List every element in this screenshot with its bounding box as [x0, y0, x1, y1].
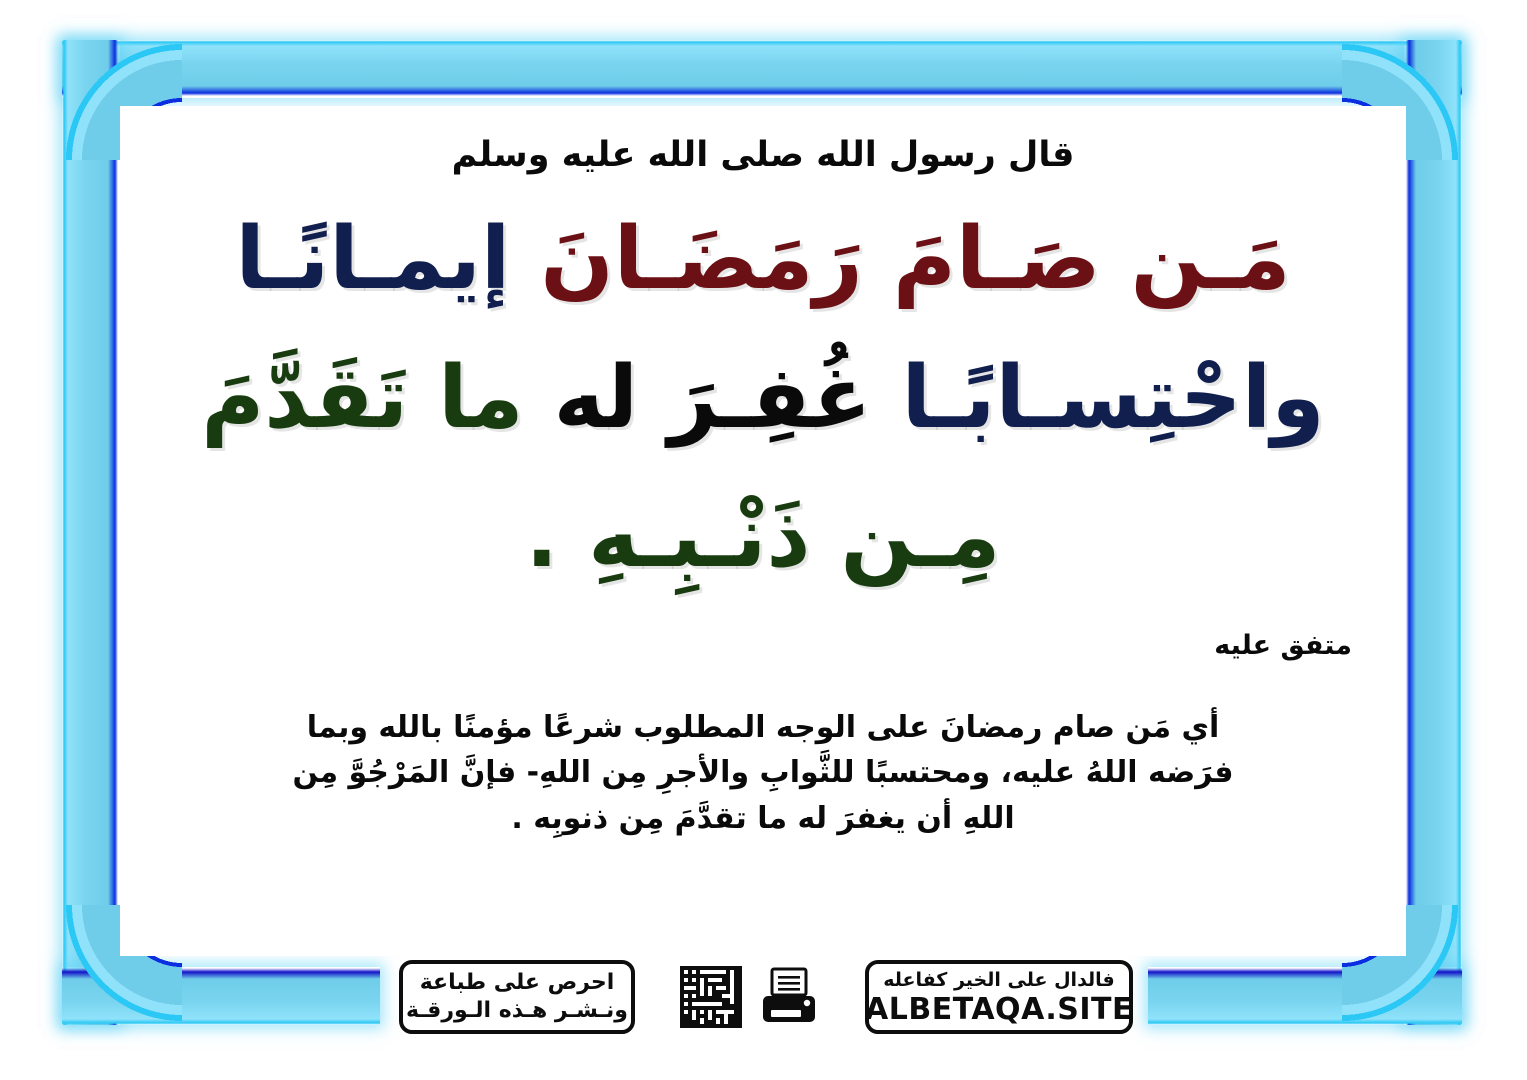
explanation-line-3: اللهِ أن يغفرَ له ما تقدَّمَ مِن ذنوبِه … — [170, 796, 1356, 842]
print-encouragement-line-2: ونـشـر هـذه الـورقـة — [406, 997, 628, 1025]
hadith-line-1: مَـن صَـامَ رَمَضَـانَ إيمـانًـا — [156, 190, 1370, 329]
footer-icons — [670, 966, 830, 1028]
hadith-seg-1b: إيمـانًـا — [235, 209, 510, 309]
hadith-line-2: واحْتِسـابًـا غُفِـرَ له ما تَقَدَّمَ — [156, 329, 1370, 468]
site-credit-arabic: فالدال على الخير كفاعله — [883, 968, 1115, 992]
print-encouragement-box: احرص على طباعة ونـشـر هـذه الـورقـة — [399, 960, 635, 1034]
hadith-seg-2a: واحْتِسـابًـا — [902, 348, 1325, 448]
hadith-text: مَـن صَـامَ رَمَضَـانَ إيمـانًـا واحْتِس… — [120, 178, 1406, 608]
footer-strip: احرص على طباعة ونـشـر هـذه الـورقـة — [399, 958, 1133, 1036]
frame-bottom-right-segment — [1148, 967, 1462, 1025]
hadith-seg-1a: مَـن صَـامَ رَمَضَـانَ — [540, 209, 1290, 309]
site-credit-box[interactable]: فالدال على الخير كفاعله ALBETAQA.SITE — [865, 960, 1133, 1034]
page-title: قال رسول الله صلى الله عليه وسلم — [120, 106, 1406, 178]
explanation-line-2: فرَضه اللهُ عليه، ومحتسبًا للثَّوابِ وال… — [170, 750, 1356, 796]
hadith-seg-2b: غُفِـرَ له — [554, 348, 872, 448]
explanation-text: أي مَن صام رمضانَ على الوجه المطلوب شرعً… — [120, 661, 1406, 842]
frame-right — [1404, 40, 1462, 1025]
frame-top — [62, 40, 1462, 98]
kufic-logo-icon — [680, 966, 742, 1028]
printer-icon — [758, 966, 820, 1028]
hadith-source: متفق عليه — [120, 608, 1406, 661]
frame-bottom-left-segment — [62, 967, 380, 1025]
poster-canvas: قال رسول الله صلى الله عليه وسلم مَـن صَ… — [0, 0, 1527, 1080]
print-encouragement-line-1: احرص على طباعة — [420, 969, 615, 997]
hadith-seg-3a: مِـن ذَنْـبِـهِ . — [525, 487, 1000, 587]
site-url[interactable]: ALBETAQA.SITE — [865, 993, 1133, 1026]
frame-left — [62, 40, 120, 1025]
hadith-line-3: مِـن ذَنْـبِـهِ . — [156, 468, 1370, 607]
content-card: قال رسول الله صلى الله عليه وسلم مَـن صَ… — [120, 106, 1406, 956]
explanation-line-1: أي مَن صام رمضانَ على الوجه المطلوب شرعً… — [170, 705, 1356, 751]
hadith-seg-2c: ما تَقَدَّمَ — [201, 348, 523, 448]
